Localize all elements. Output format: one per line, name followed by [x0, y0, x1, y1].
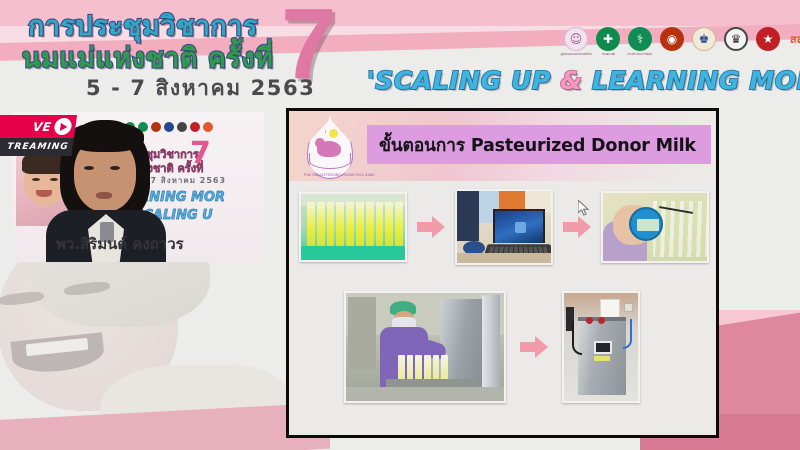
- live-label: VE: [32, 120, 52, 134]
- process-row-bottom: [344, 291, 640, 403]
- conference-slogan: 'SCALING UP & LEARNING MORE': [367, 66, 800, 95]
- ministry-of-public-health-logo: ✚กรมอนามัย: [595, 27, 621, 59]
- human-milk-bank-droplet-logo: THAI BREASTFEEDING HUMAN MILK BANK: [299, 117, 359, 189]
- photo-nurse-pasteurizer: [344, 291, 506, 403]
- webcam-poster-number: 7: [190, 139, 211, 169]
- royal-college-logo: ◉: [659, 27, 685, 59]
- mouse-pointer: [578, 200, 591, 217]
- pediatric-society-logo: ♛: [723, 27, 749, 59]
- streaming-label: TREAMING: [6, 142, 69, 152]
- process-row-top: [299, 189, 709, 265]
- photo-laptop-recording: [455, 189, 553, 265]
- slide-title-bar: ขั้นตอนการ Pasteurized Donor Milk: [367, 125, 711, 164]
- presentation-slide[interactable]: THAI BREASTFEEDING HUMAN MILK BANK ขั้นต…: [286, 108, 719, 438]
- sponsor-logo-row: ☺ศูนย์นมแม่แห่งประเทศไทย ✚กรมอนามัย ⚕กระ…: [563, 27, 800, 59]
- speaker-name-label: พว.สิริมนต์ คงถาวร: [56, 232, 184, 256]
- milk-bank-logo-caption: THAI BREASTFEEDING HUMAN MILK BANK: [303, 173, 356, 178]
- photo-hand-holding-timer: [601, 191, 709, 263]
- nurse-council-logo: ★: [755, 27, 781, 59]
- arrow-right-icon: [563, 215, 591, 239]
- thaihealth-sss-logo: สสส: [787, 27, 800, 59]
- arrow-right-icon: [417, 215, 445, 239]
- slogan-part1: 'SCALING UP: [367, 66, 560, 95]
- screenshot-stage: การประชุมวิชาการ นมแม่แห่งชาติ ครั้งที่ …: [0, 0, 800, 450]
- arrow-right-icon: [520, 335, 548, 359]
- process-photo-grid: [289, 183, 719, 437]
- photo-stainless-machine: [562, 291, 640, 403]
- thai-breastfeeding-centre-logo: ☺ศูนย์นมแม่แห่งประเทศไทย: [563, 27, 589, 59]
- edition-number: 7: [281, 0, 337, 94]
- play-icon: [53, 118, 72, 135]
- live-streaming-badge: VE TREAMING: [0, 115, 77, 159]
- department-of-health-logo: ⚕กระทรวงสาธารณสุข: [627, 27, 653, 59]
- live-badge-top: VE: [0, 115, 77, 138]
- photo-milk-bottles-rack: [299, 192, 407, 262]
- slogan-ampersand: &: [560, 66, 582, 95]
- royal-emblem-logo: ♚: [691, 27, 717, 59]
- slogan-part2: LEARNING MORE': [583, 66, 800, 95]
- slide-title: ขั้นตอนการ Pasteurized Donor Milk: [379, 131, 696, 159]
- live-badge-bottom: TREAMING: [0, 138, 74, 156]
